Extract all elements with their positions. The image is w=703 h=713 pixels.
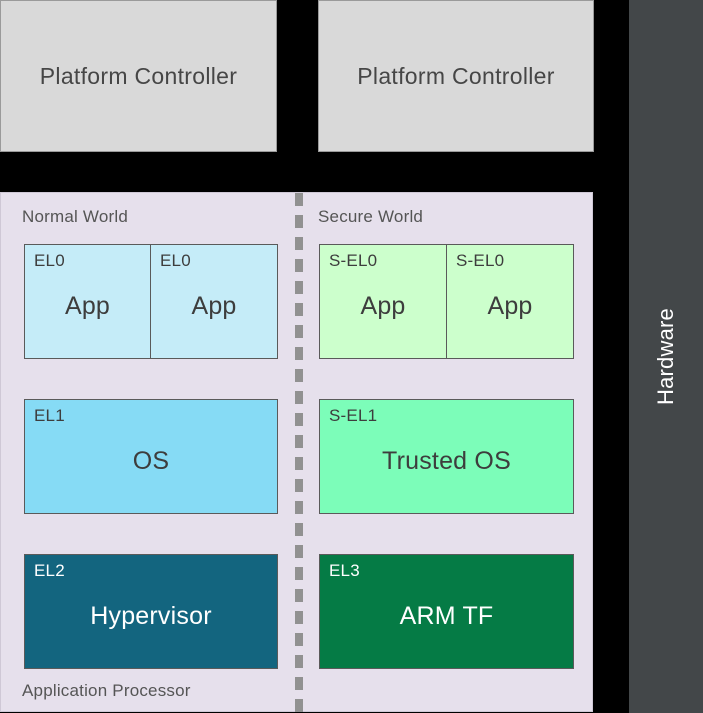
world-divider-dashed-line xyxy=(295,193,303,713)
normal-world-app-box-0: EL0 App xyxy=(24,244,151,359)
hardware-column: Hardware xyxy=(629,0,703,713)
normal-world-title: Normal World xyxy=(22,207,128,227)
normal-world-app-box-1: EL0 App xyxy=(150,244,278,359)
secure-world-app-box-1: S-EL0 App xyxy=(446,244,574,359)
hardware-label: Hardware xyxy=(629,0,703,713)
component-name: ARM TF xyxy=(320,555,573,668)
component-name: App xyxy=(25,245,150,358)
diagram-canvas: Hardware Platform Controller Platform Co… xyxy=(0,0,703,713)
secure-world-arm-tf-box: EL3 ARM TF xyxy=(319,554,574,669)
application-processor-panel: Normal World Secure World EL0 App EL0 Ap… xyxy=(0,192,593,712)
secure-world-os-box: S-EL1 Trusted OS xyxy=(319,399,574,514)
application-processor-label: Application Processor xyxy=(22,681,191,701)
component-name: App xyxy=(447,245,573,358)
platform-controller-box-1: Platform Controller xyxy=(318,0,594,152)
normal-world-hypervisor-box: EL2 Hypervisor xyxy=(24,554,278,669)
component-name: App xyxy=(320,245,446,358)
secure-world-title: Secure World xyxy=(318,207,423,227)
secure-world-app-box-0: S-EL0 App xyxy=(319,244,447,359)
component-name: OS xyxy=(25,400,277,513)
component-name: App xyxy=(151,245,277,358)
component-name: Trusted OS xyxy=(320,400,573,513)
platform-controller-label-0: Platform Controller xyxy=(40,63,237,90)
normal-world-os-box: EL1 OS xyxy=(24,399,278,514)
platform-controller-label-1: Platform Controller xyxy=(357,63,554,90)
platform-controller-box-0: Platform Controller xyxy=(0,0,277,152)
component-name: Hypervisor xyxy=(25,555,277,668)
